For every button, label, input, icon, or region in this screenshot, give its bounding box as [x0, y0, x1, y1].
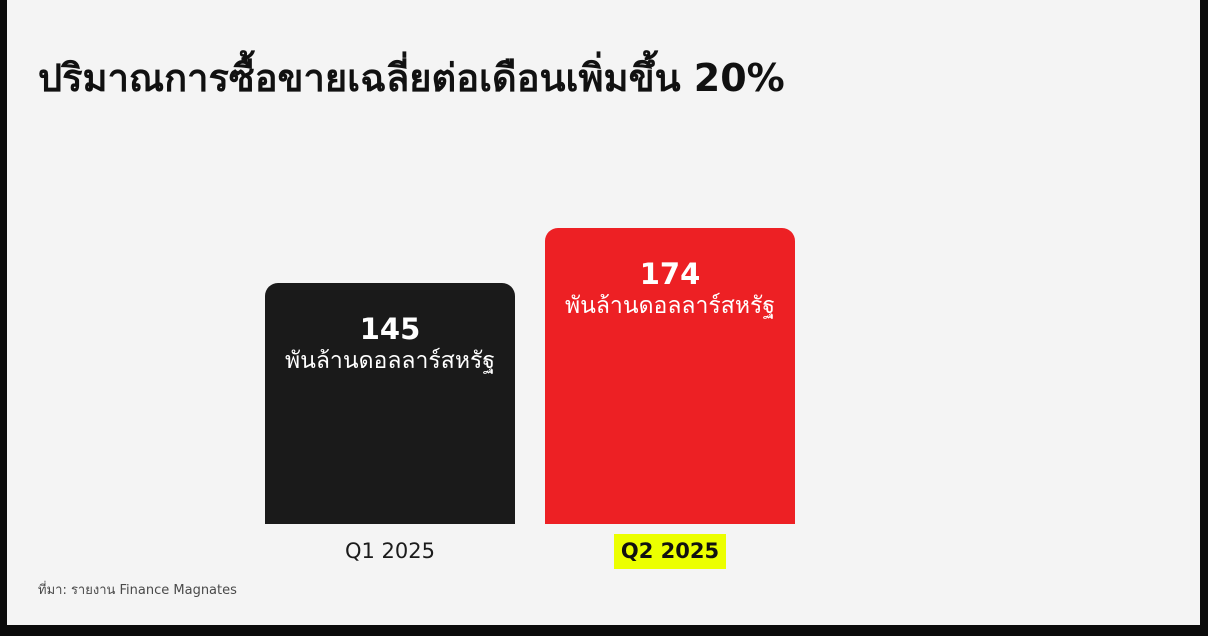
bar-value-label-q1: 145 — [360, 313, 421, 345]
bar-unit-label-q2: พันล้านดอลลาร์สหรัฐ — [565, 293, 775, 321]
bar-q2-2025: 174 พันล้านดอลลาร์สหรัฐ — [545, 228, 795, 524]
slide-canvas: ปริมาณการซื้อขายเฉลี่ยต่อเดือนเพิ่มขึ้น … — [0, 0, 1208, 636]
bar-q1-2025: 145 พันล้านดอลลาร์สหรัฐ — [265, 283, 515, 524]
source-note: ที่มา: รายงาน Finance Magnates — [38, 579, 237, 600]
bar-value-label-q2: 174 — [640, 258, 701, 290]
category-label-q1-text: Q1 2025 — [345, 539, 435, 563]
category-label-q2: Q2 2025 — [545, 539, 795, 563]
category-label-q2-highlight: Q2 2025 — [614, 534, 726, 569]
category-label-q1: Q1 2025 — [265, 539, 515, 563]
bar-chart-plot-area: 145 พันล้านดอลลาร์สหรัฐ 174 พันล้านดอลลา… — [0, 0, 1208, 636]
bar-unit-label-q1: พันล้านดอลลาร์สหรัฐ — [285, 348, 495, 376]
